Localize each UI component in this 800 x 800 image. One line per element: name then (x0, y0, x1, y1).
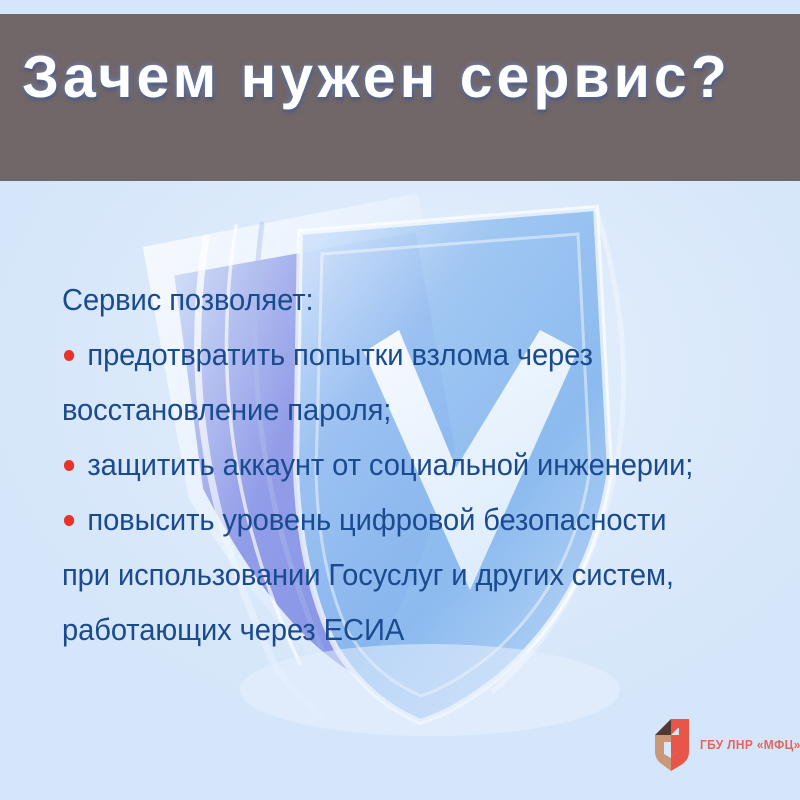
body-copy: Сервис позволяет: предотвратить попытки … (62, 272, 752, 657)
copy-line-bullet-1: предотвратить попытки взлома через (62, 327, 711, 382)
logo-text: ГБУ ЛНР «МФЦ» (700, 738, 800, 752)
copy-line-cont-3: работающих через ЕСИА (62, 602, 711, 657)
page-title: Зачем нужен сервис? (22, 48, 782, 107)
poster: Зачем нужен сервис? Сервис позволяет: пр… (0, 0, 800, 800)
copy-line-bullet-3: повысить уровень цифровой безопасности (62, 492, 711, 547)
copy-line-bullet-2: защитить аккаунт от социальной инженерии… (62, 437, 711, 492)
logo: ГБУ ЛНР «МФЦ» (651, 716, 800, 774)
copy-line-cont-2: при использовании Госуслуг и других сист… (62, 547, 711, 602)
copy-line-cont-1: восстановление пароля; (62, 382, 711, 437)
mfc-shield-icon (651, 716, 693, 774)
copy-line-intro: Сервис позволяет: (62, 272, 711, 327)
